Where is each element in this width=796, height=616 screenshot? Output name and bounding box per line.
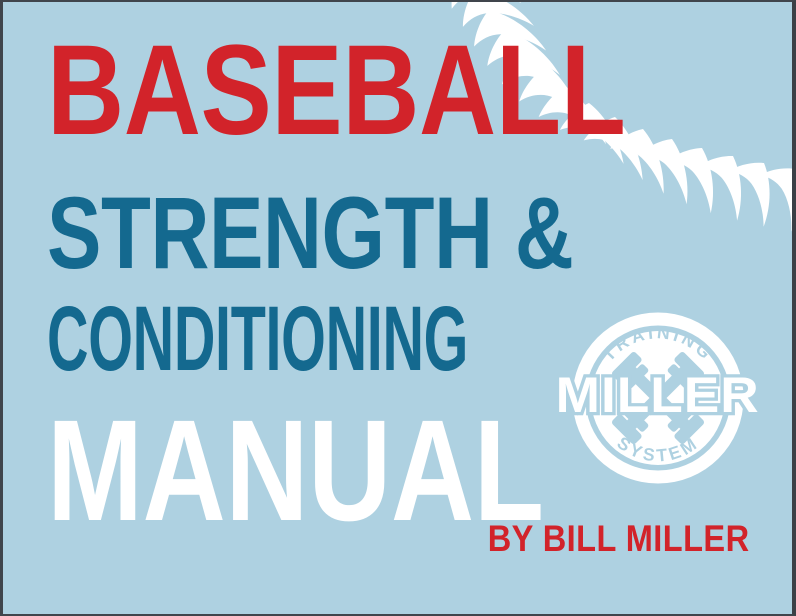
miller-training-system-logo: TRAINING SYSTEM	[565, 305, 751, 491]
author-byline: BY BILL MILLER	[488, 518, 750, 560]
cover-title-block: BASEBALL STRENGTH & CONDITIONING MANUAL	[47, 36, 517, 533]
logo-wordmark: MILLER	[556, 366, 760, 422]
title-line-strength: STRENGTH &	[47, 190, 423, 278]
title-line-manual: MANUAL	[47, 409, 423, 533]
svg-text:MILLER: MILLER	[556, 366, 760, 422]
title-line-baseball: BASEBALL	[47, 36, 439, 146]
book-cover: BASEBALL STRENGTH & CONDITIONING MANUAL …	[0, 0, 796, 616]
title-line-conditioning: CONDITIONING	[47, 300, 341, 379]
